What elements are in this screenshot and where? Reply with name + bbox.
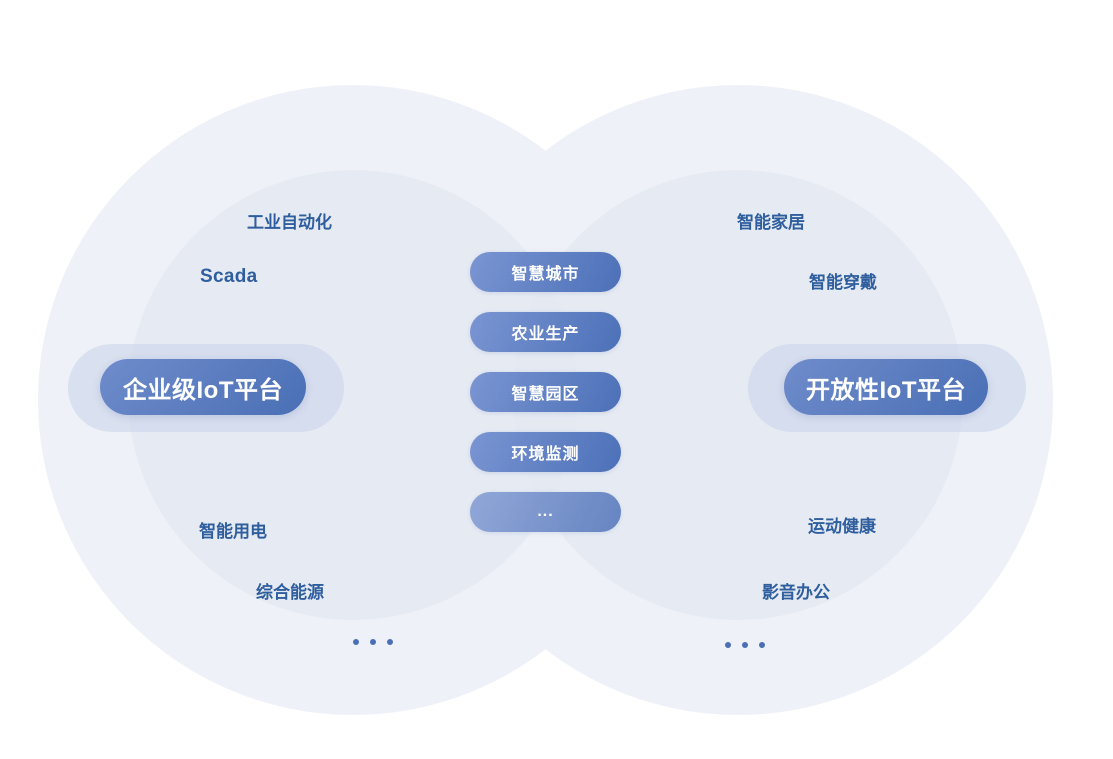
right-category-av-office: 影音办公 <box>762 578 830 603</box>
intersection-pill-more[interactable]: ... <box>470 492 621 532</box>
dot <box>353 639 359 645</box>
dot <box>725 642 731 648</box>
venn-diagram-canvas: 工业自动化 Scada 智能用电 综合能源 企业级IoT平台 智能家居 智能穿戴… <box>0 0 1113 759</box>
dot <box>387 639 393 645</box>
right-platform-pill[interactable]: 开放性IoT平台 <box>784 359 988 415</box>
left-category-smart-electricity: 智能用电 <box>199 517 267 542</box>
left-category-scada: Scada <box>200 266 257 288</box>
intersection-pill-environment-monitoring[interactable]: 环境监测 <box>470 432 621 472</box>
right-category-sports-health: 运动健康 <box>808 512 876 537</box>
right-more-indicator <box>725 642 765 648</box>
intersection-pill-smart-park[interactable]: 智慧园区 <box>470 372 621 412</box>
intersection-pill-smart-city[interactable]: 智慧城市 <box>470 252 621 292</box>
dot <box>742 642 748 648</box>
left-more-indicator <box>353 639 393 645</box>
intersection-pill-agriculture[interactable]: 农业生产 <box>470 312 621 352</box>
dot <box>370 639 376 645</box>
left-platform-pill[interactable]: 企业级IoT平台 <box>100 359 306 415</box>
dot <box>759 642 765 648</box>
left-category-integrated-energy: 综合能源 <box>256 578 324 603</box>
right-category-smart-home: 智能家居 <box>737 208 805 233</box>
right-category-smart-wearables: 智能穿戴 <box>809 268 877 293</box>
left-category-industrial-automation: 工业自动化 <box>247 208 332 233</box>
